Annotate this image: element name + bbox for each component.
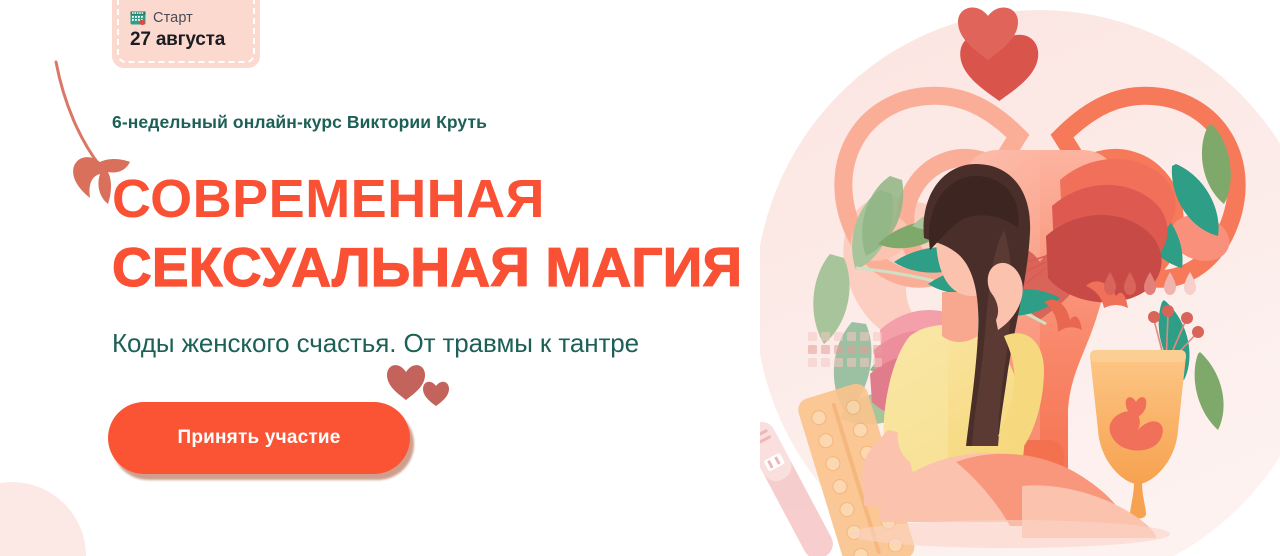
hero-content: Старт 27 августа 6-недельный онлайн-курс… [0,0,800,556]
hero-section: Старт 27 августа 6-недельный онлайн-курс… [0,0,1280,556]
course-eyebrow: 6-недельный онлайн-курс Виктории Круть [112,112,487,133]
cta-container: Принять участие [108,402,414,480]
page-title: СОВРЕМЕННАЯ СЕКСУАЛЬНАЯ МАГИЯ [112,172,742,295]
calendar-icon [130,10,146,26]
start-badge-label: Старт [153,10,193,26]
start-badge-top: Старт [130,10,244,26]
headline-line-2: СЕКСУАЛЬНАЯ МАГИЯ [112,240,742,295]
tagline: Коды женского счастья. От травмы к тантр… [112,328,639,359]
headline-line-1: СОВРЕМЕННАЯ [112,172,742,226]
join-button[interactable]: Принять участие [108,402,410,474]
womens-health-illustration [760,0,1280,556]
hearts-pair-icon [386,362,456,407]
pink-circle-decoration [0,482,86,556]
start-badge-date: 27 августа [130,29,244,51]
